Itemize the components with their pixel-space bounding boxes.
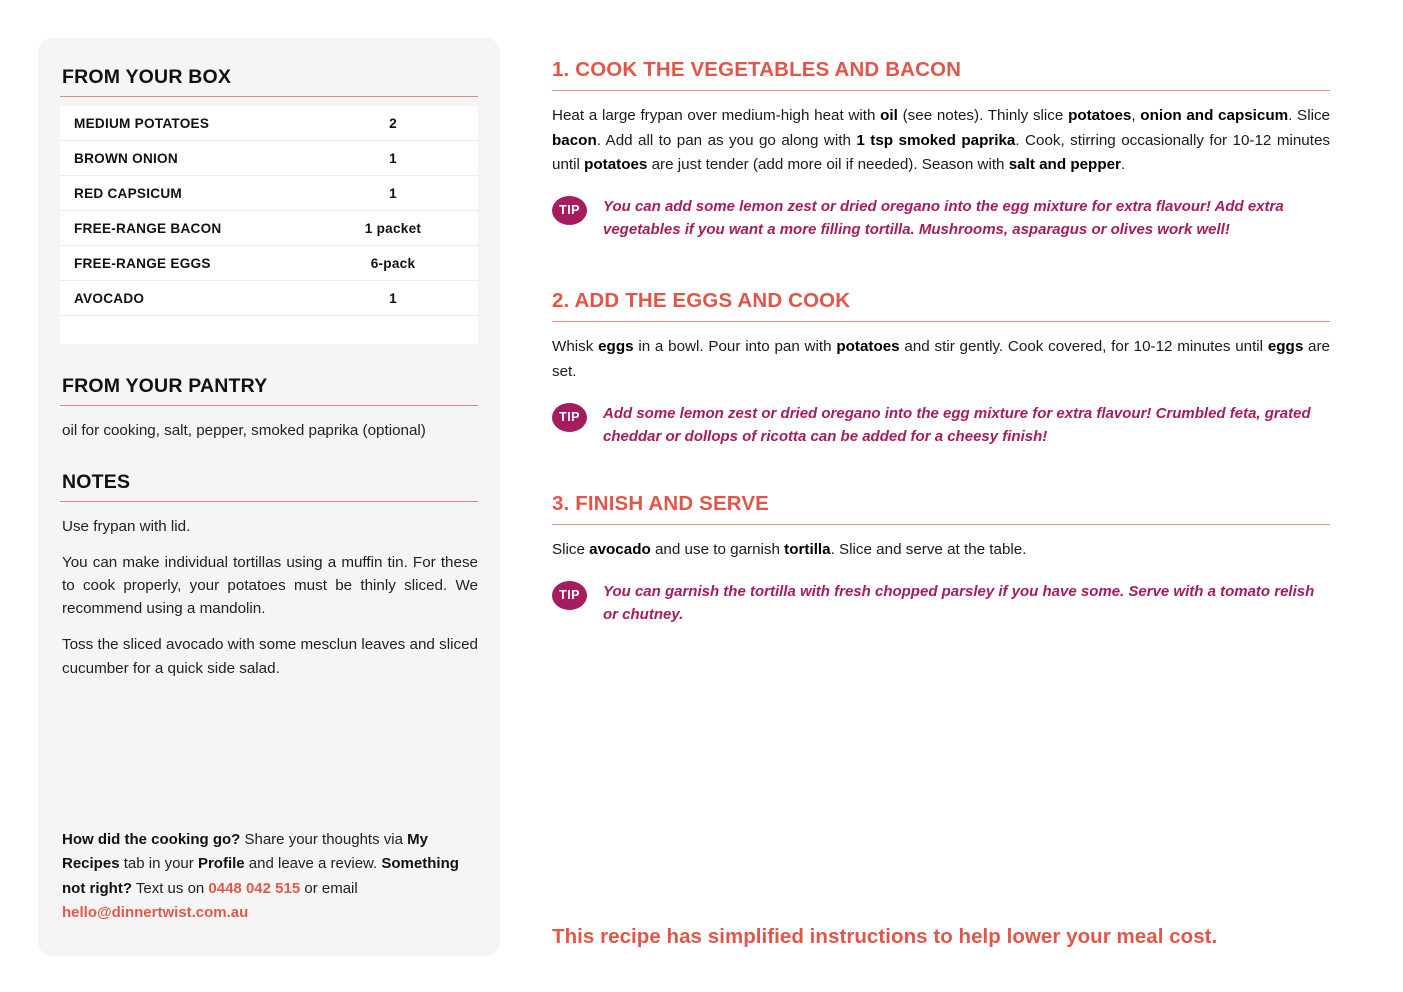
step-heading: 3. FINISH AND SERVE — [552, 492, 1330, 516]
from-your-box-section: FROM YOUR BOX MEDIUM POTATOES2BROWN ONIO… — [60, 66, 478, 344]
note-paragraph: Toss the sliced avocado with some mesclu… — [62, 633, 478, 679]
ingredient-quantity — [318, 316, 478, 345]
instruction-text: Whisk — [552, 338, 598, 355]
instruction-text: and stir gently. Cook covered, for 10-12… — [900, 338, 1268, 355]
ingredient-row: FREE-RANGE BACON1 packet — [60, 211, 478, 246]
tip-badge-icon: TIP — [552, 403, 587, 432]
tip-row: TIPYou can add some lemon zest or dried … — [552, 195, 1330, 242]
highlighted-ingredient: onion and capsicum — [1140, 107, 1288, 124]
instruction-text: . Slice and serve at the table. — [831, 541, 1027, 558]
footer-banner: This recipe has simplified instructions … — [552, 925, 1342, 949]
from-your-box-heading: FROM YOUR BOX — [60, 66, 478, 89]
highlighted-ingredient: tortilla — [784, 541, 830, 558]
instruction-text: Heat a large frypan over medium-high hea… — [552, 107, 880, 124]
ingredient-quantity: 1 — [318, 176, 478, 211]
notes-section: NOTES Use frypan with lid.You can make i… — [60, 471, 478, 680]
ingredient-name — [60, 316, 318, 345]
ingredient-name: MEDIUM POTATOES — [60, 106, 318, 141]
highlighted-ingredient: salt and pepper — [1009, 156, 1121, 173]
feedback-q1-end: and leave a review. — [245, 855, 378, 872]
feedback-q1-mid: Share your thoughts via — [240, 831, 407, 848]
ingredient-name: FREE-RANGE BACON — [60, 211, 318, 246]
highlighted-ingredient: eggs — [598, 338, 633, 355]
ingredient-quantity: 1 — [318, 281, 478, 316]
heading-divider — [60, 501, 478, 502]
tip-row: TIPYou can garnish the tortilla with fre… — [552, 580, 1330, 627]
step-instructions: Heat a large frypan over medium-high hea… — [552, 104, 1330, 178]
tip-badge-icon: TIP — [552, 196, 587, 225]
step-divider — [552, 321, 1330, 322]
tip-text: You can garnish the tortilla with fresh … — [603, 580, 1330, 627]
step-divider — [552, 524, 1330, 525]
ingredient-row: FREE-RANGE EGGS6-pack — [60, 246, 478, 281]
notes-heading: NOTES — [60, 471, 478, 494]
ingredient-quantity: 2 — [318, 106, 478, 141]
support-phone-number[interactable]: 0448 042 515 — [208, 880, 300, 897]
feedback-q1-mid2: tab in your — [120, 855, 198, 872]
pantry-items-text: oil for cooking, salt, pepper, smoked pa… — [60, 420, 478, 442]
ingredient-row: RED CAPSICUM1 — [60, 176, 478, 211]
ingredient-quantity: 6-pack — [318, 246, 478, 281]
step-heading: 2. ADD THE EGGS AND COOK — [552, 289, 1330, 313]
highlighted-ingredient: 1 tsp smoked paprika — [856, 132, 1015, 149]
step-heading: 1. COOK THE VEGETABLES AND BACON — [552, 58, 1330, 82]
sidebar-panel: FROM YOUR BOX MEDIUM POTATOES2BROWN ONIO… — [38, 38, 500, 956]
recipe-step: 1. COOK THE VEGETABLES AND BACONHeat a l… — [552, 58, 1330, 241]
note-paragraph: You can make individual tortillas using … — [62, 551, 478, 620]
notes-body: Use frypan with lid.You can make individ… — [60, 515, 478, 680]
highlighted-ingredient: potatoes — [1068, 107, 1131, 124]
feedback-footer: How did the cooking go? Share your thoug… — [62, 828, 478, 926]
instruction-text: and use to garnish — [651, 541, 784, 558]
instruction-text: . Slice — [1288, 107, 1330, 124]
highlighted-ingredient: bacon — [552, 132, 597, 149]
instruction-text: . Add all to pan as you go along with — [597, 132, 857, 149]
from-your-pantry-heading: FROM YOUR PANTRY — [60, 375, 478, 398]
tip-badge-icon: TIP — [552, 581, 587, 610]
highlighted-ingredient: oil — [880, 107, 898, 124]
profile-label: Profile — [198, 855, 245, 872]
step-divider — [552, 90, 1330, 91]
ingredient-quantity: 1 packet — [318, 211, 478, 246]
highlighted-ingredient: eggs — [1268, 338, 1303, 355]
ingredient-row-empty — [60, 316, 478, 345]
ingredient-name: AVOCADO — [60, 281, 318, 316]
recipe-page: FROM YOUR BOX MEDIUM POTATOES2BROWN ONIO… — [0, 0, 1403, 992]
tip-row: TIPAdd some lemon zest or dried oregano … — [552, 402, 1330, 449]
recipe-steps-column: 1. COOK THE VEGETABLES AND BACONHeat a l… — [552, 58, 1330, 626]
step-spacer — [552, 241, 1330, 289]
step-instructions: Slice avocado and use to garnish tortill… — [552, 538, 1330, 563]
ingredient-row: BROWN ONION1 — [60, 141, 478, 176]
heading-divider — [60, 405, 478, 406]
heading-divider — [60, 96, 478, 97]
step-instructions: Whisk eggs in a bowl. Pour into pan with… — [552, 335, 1330, 384]
instruction-text: (see notes). Thinly slice — [898, 107, 1068, 124]
highlighted-ingredient: potatoes — [584, 156, 647, 173]
ingredient-name: FREE-RANGE EGGS — [60, 246, 318, 281]
instruction-text: in a bowl. Pour into pan with — [634, 338, 837, 355]
support-email-address[interactable]: hello@dinnertwist.com.au — [62, 904, 248, 921]
instruction-text: Slice — [552, 541, 589, 558]
ingredients-table-body: MEDIUM POTATOES2BROWN ONION1RED CAPSICUM… — [60, 106, 478, 344]
instruction-text: are just tender (add more oil if needed)… — [647, 156, 1008, 173]
ingredient-row: MEDIUM POTATOES2 — [60, 106, 478, 141]
instruction-text: , — [1131, 107, 1140, 124]
from-your-pantry-section: FROM YOUR PANTRY oil for cooking, salt, … — [60, 375, 478, 442]
feedback-q1-bold: How did the cooking go? — [62, 831, 240, 848]
instruction-text: . — [1121, 156, 1125, 173]
tip-text: You can add some lemon zest or dried ore… — [603, 195, 1330, 242]
ingredient-name: BROWN ONION — [60, 141, 318, 176]
feedback-question-1: How did the cooking go? Share your thoug… — [62, 831, 428, 872]
feedback-q2-mid: Text us on — [132, 880, 208, 897]
recipe-step: 2. ADD THE EGGS AND COOKWhisk eggs in a … — [552, 289, 1330, 448]
ingredients-table: MEDIUM POTATOES2BROWN ONION1RED CAPSICUM… — [60, 106, 478, 344]
ingredient-quantity: 1 — [318, 141, 478, 176]
note-paragraph: Use frypan with lid. — [62, 515, 478, 538]
feedback-q2-mid2: or email — [300, 880, 358, 897]
recipe-step: 3. FINISH AND SERVESlice avocado and use… — [552, 492, 1330, 626]
ingredient-name: RED CAPSICUM — [60, 176, 318, 211]
ingredient-row: AVOCADO1 — [60, 281, 478, 316]
tip-text: Add some lemon zest or dried oregano int… — [603, 402, 1330, 449]
step-spacer — [552, 448, 1330, 492]
highlighted-ingredient: avocado — [589, 541, 651, 558]
highlighted-ingredient: potatoes — [836, 338, 899, 355]
